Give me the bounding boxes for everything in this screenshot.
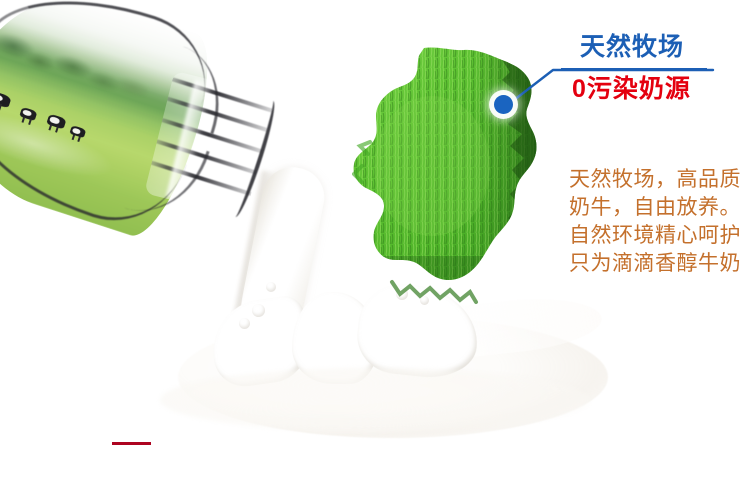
description-text: 天然牧场，高品质 奶牛，自由放养。 自然环境精心呵护 只为滴滴香醇牛奶 bbox=[569, 166, 749, 278]
milk-droplet bbox=[239, 318, 250, 329]
milk-droplet bbox=[266, 282, 276, 292]
ireland-map-shape bbox=[352, 46, 568, 308]
description-line: 奶牛，自由放养。 bbox=[569, 194, 749, 222]
headline-title: 天然牧场 bbox=[580, 32, 684, 62]
headline-divider bbox=[561, 68, 707, 71]
accent-bar bbox=[112, 442, 151, 445]
description-line: 自然环境精心呵护 bbox=[569, 222, 749, 250]
pasture-location-marker[interactable] bbox=[494, 95, 513, 114]
description-line: 只为滴滴香醇牛奶 bbox=[569, 250, 749, 278]
headline-subtitle: 0污染奶源 bbox=[572, 74, 691, 104]
milk-surface bbox=[160, 368, 590, 432]
milk-droplet bbox=[252, 304, 265, 317]
ireland-grass-map bbox=[352, 46, 568, 308]
product-banner: 天然牧场 0污染奶源 天然牧场，高品质 奶牛，自由放养。 自然环境精心呵护 只为… bbox=[0, 0, 750, 493]
description-line: 天然牧场，高品质 bbox=[569, 166, 749, 194]
